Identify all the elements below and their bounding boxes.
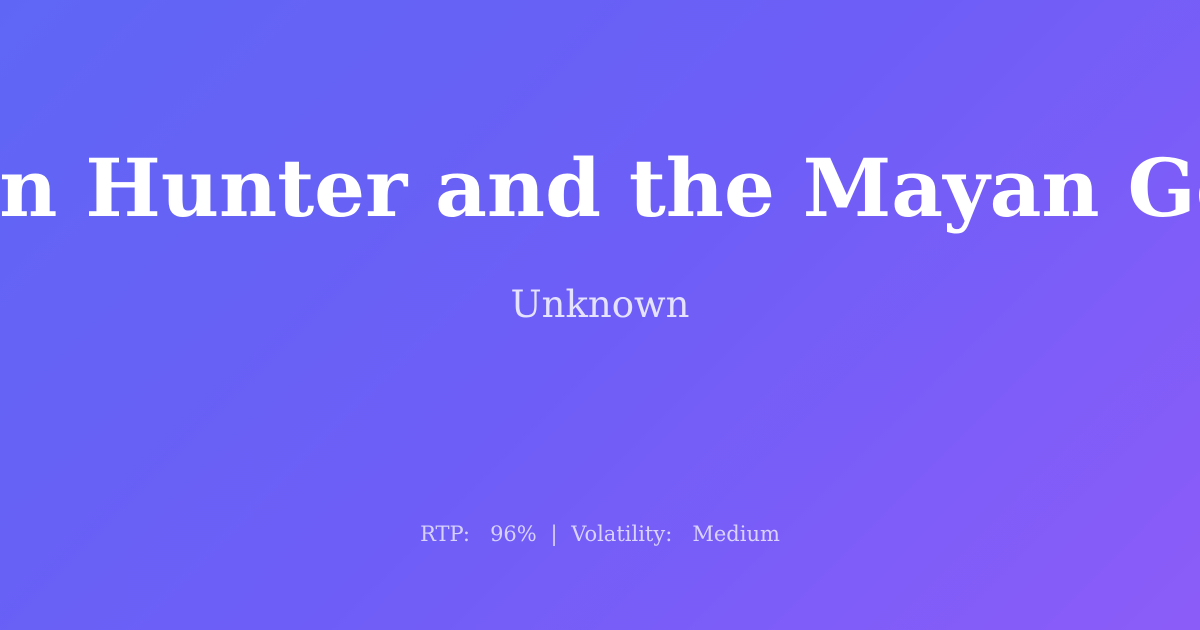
- rtp-value: 96%: [490, 522, 537, 546]
- meta-separator: |: [543, 522, 564, 546]
- rtp-label: RTP:: [420, 522, 470, 546]
- game-preview-card: John Hunter and the Mayan Gods Unknown R…: [0, 0, 1200, 630]
- meta-block: RTP: 96% | Volatility: Medium: [0, 524, 1200, 545]
- volatility-value: Medium: [692, 522, 780, 546]
- game-stats-line: RTP: 96% | Volatility: Medium: [420, 524, 780, 545]
- page-title: John Hunter and the Mayan Gods: [0, 148, 1200, 228]
- title-block: John Hunter and the Mayan Gods Unknown: [0, 0, 1200, 470]
- provider-subtitle: Unknown: [510, 286, 689, 323]
- volatility-label: Volatility:: [571, 522, 672, 546]
